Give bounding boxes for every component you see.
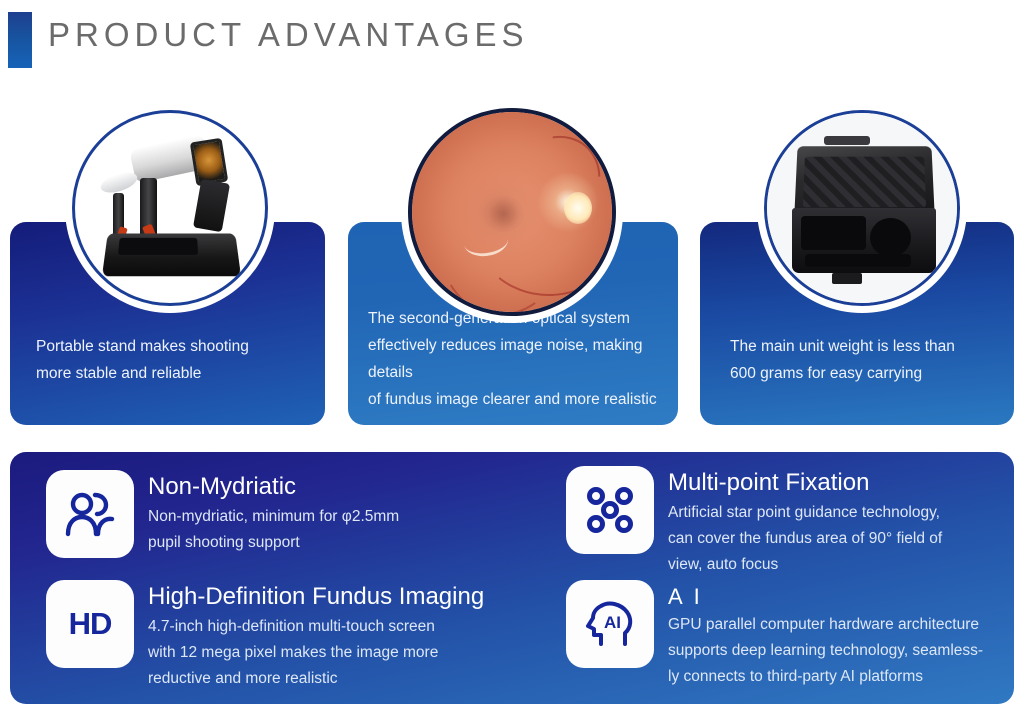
feature-ai: AI A I GPU parallel computer hardware ar… — [566, 580, 1018, 690]
fundus-image — [412, 112, 612, 312]
feature-non-mydriatic: Non-Mydriatic Non-mydriatic, minimum for… — [46, 470, 516, 558]
description-line: pupil shooting support — [148, 530, 399, 556]
caption-line: 600 grams for easy carrying — [730, 360, 998, 387]
hd-badge-icon: HD — [46, 580, 134, 668]
feature-multi-point-fixation: Multi-point Fixation Artificial star poi… — [566, 466, 1006, 578]
fundus-camera-on-portable-stand-photo — [72, 110, 268, 306]
description-line: Artificial star point guidance technolog… — [668, 500, 942, 526]
product-advantages-page: PRODUCT ADVANTAGES Portable stand makes … — [0, 0, 1024, 715]
carrying-case-photo — [764, 110, 960, 306]
case-cutout-shape — [801, 216, 866, 250]
ai-head-glyph: AI — [582, 597, 638, 651]
header: PRODUCT ADVANTAGES — [0, 0, 1024, 100]
description-line: Non-mydriatic, minimum for φ2.5mm — [148, 504, 399, 530]
caption-line: effectively reduces image noise, making … — [368, 332, 664, 386]
description-line: 4.7-inch high-definition multi-touch scr… — [148, 614, 484, 640]
caption-line: of fundus image clearer and more realist… — [368, 386, 664, 413]
retinal-fundus-photo — [408, 108, 616, 316]
macula-region — [484, 196, 524, 232]
case-illustration — [767, 113, 957, 303]
description-line: view, auto focus — [668, 552, 942, 578]
case-lid-shape — [794, 147, 934, 214]
camera-lens-shape — [190, 137, 229, 185]
feature-description: GPU parallel computer hardware architect… — [668, 612, 983, 690]
description-line: ly connects to third-party AI platforms — [668, 664, 983, 690]
five-dots-glyph — [583, 483, 637, 537]
five-dots-icon — [566, 466, 654, 554]
caption-line: Portable stand makes shooting — [36, 333, 307, 360]
feature-title: A I — [668, 582, 983, 612]
feature-description: 4.7-inch high-definition multi-touch scr… — [148, 614, 484, 692]
hd-label: HD — [69, 606, 112, 642]
feature-description: Artificial star point guidance technolog… — [668, 500, 942, 578]
feature-text: A I GPU parallel computer hardware archi… — [668, 580, 983, 690]
case-cutout-shape — [805, 254, 911, 267]
card-caption: The main unit weight is less than 600 gr… — [730, 333, 998, 387]
caption-line: The main unit weight is less than — [730, 333, 998, 360]
stand-base-shape — [102, 233, 241, 275]
feature-text: High-Definition Fundus Imaging 4.7-inch … — [148, 580, 484, 692]
feature-title: High-Definition Fundus Imaging — [148, 582, 484, 612]
card-caption: The second-generation optical system eff… — [368, 305, 664, 413]
feature-text: Non-Mydriatic Non-mydriatic, minimum for… — [148, 470, 399, 558]
description-line: with 12 mega pixel makes the image more — [148, 640, 484, 666]
optic-disc — [564, 192, 592, 224]
two-people-icon — [46, 470, 134, 558]
features-panel: Non-Mydriatic Non-mydriatic, minimum for… — [10, 452, 1014, 704]
description-line: can cover the fundus area of 90° field o… — [668, 526, 942, 552]
card-caption: Portable stand makes shooting more stabl… — [36, 333, 307, 387]
case-handle-shape — [824, 136, 870, 146]
screen-panel-shape — [193, 179, 230, 233]
description-line: reductive and more realistic — [148, 666, 484, 692]
description-line: supports deep learning technology, seaml… — [668, 638, 983, 664]
description-line: GPU parallel computer hardware architect… — [668, 612, 983, 638]
stand-illustration — [75, 113, 265, 303]
feature-high-definition-fundus-imaging: HD High-Definition Fundus Imaging 4.7-in… — [46, 580, 546, 692]
case-foam-shape — [803, 157, 926, 207]
caption-line: more stable and reliable — [36, 360, 307, 387]
feature-title: Non-Mydriatic — [148, 472, 399, 502]
svg-text:AI: AI — [604, 613, 621, 632]
feature-description: Non-mydriatic, minimum for φ2.5mm pupil … — [148, 504, 399, 556]
feature-text: Multi-point Fixation Artificial star poi… — [668, 466, 942, 578]
ai-head-icon: AI — [566, 580, 654, 668]
title-accent-bar — [8, 12, 32, 68]
feature-title: Multi-point Fixation — [668, 468, 942, 498]
two-people-glyph — [63, 489, 117, 539]
case-latch-shape — [832, 273, 862, 284]
page-title: PRODUCT ADVANTAGES — [48, 16, 529, 54]
